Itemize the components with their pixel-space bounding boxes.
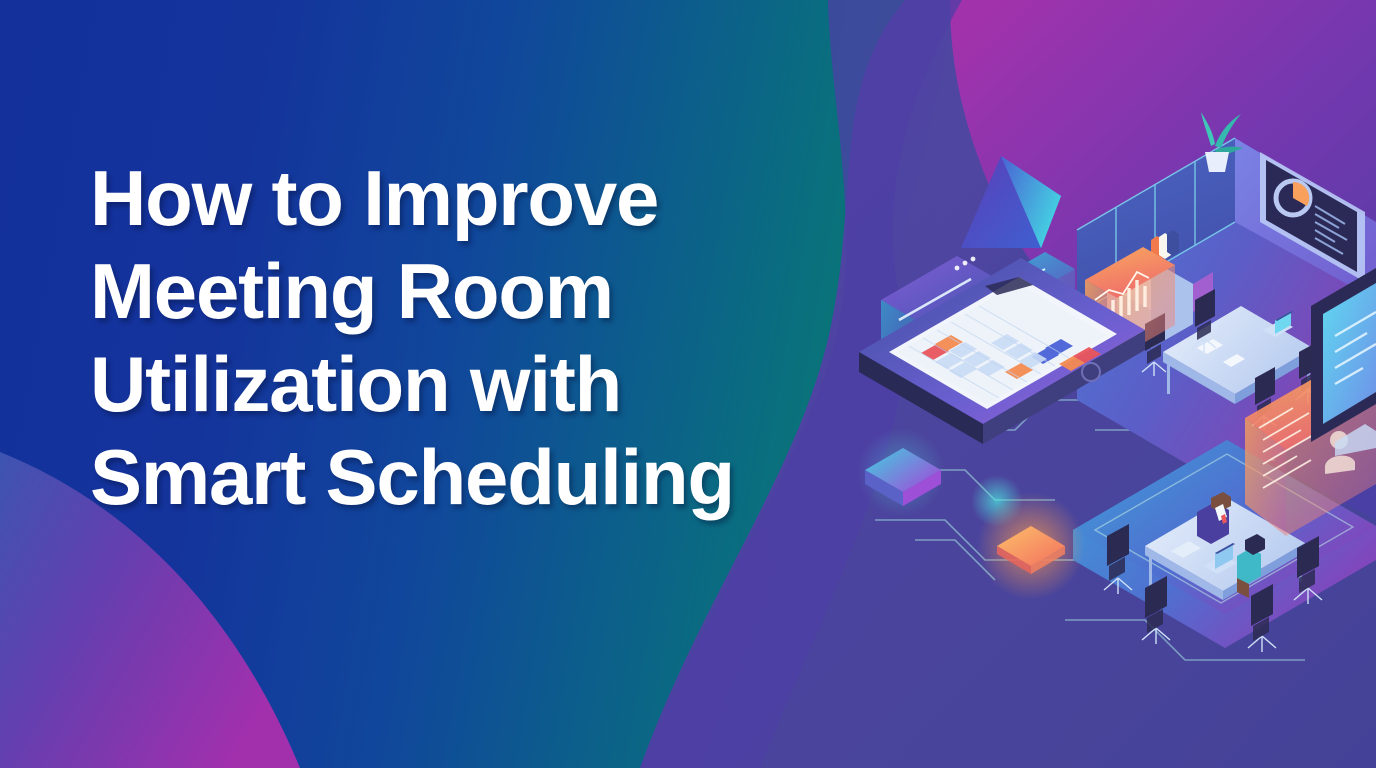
hero-banner: How to Improve Meeting Room Utilization … [0,0,1376,768]
title-line-2: Meeting Room [90,245,880,338]
title-line-4: Smart Scheduling [90,431,880,524]
title-line-1: How to Improve [90,152,880,245]
page-title: How to Improve Meeting Room Utilization … [90,152,880,524]
isometric-illustration [845,0,1376,768]
title-line-3: Utilization with [90,338,880,431]
pyramid [961,156,1061,248]
diamond-node[interactable] [977,492,1085,600]
